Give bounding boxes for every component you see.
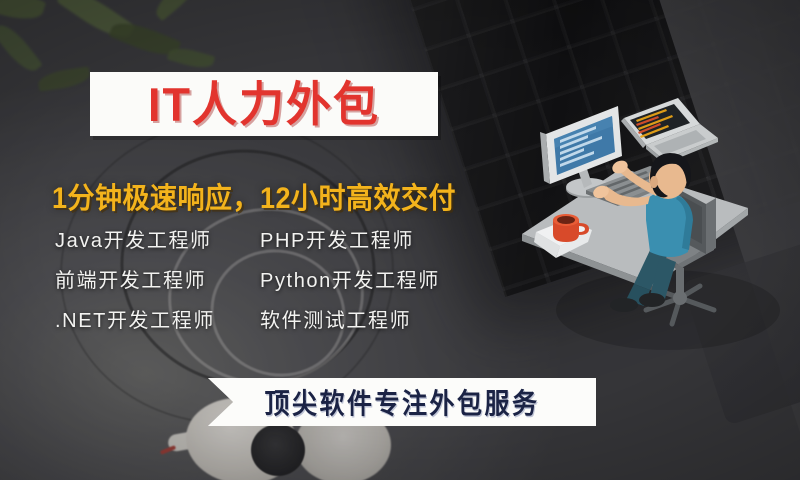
service-item-testing: 软件测试工程师 bbox=[260, 306, 485, 336]
subtitle-tagline: 1分钟极速响应，12小时高效交付 bbox=[52, 174, 456, 216]
page-title: IT人力外包 bbox=[148, 80, 380, 128]
earbud-driver bbox=[251, 424, 305, 476]
service-item-java: Java开发工程师 bbox=[55, 226, 260, 256]
service-item-dotnet: .NET开发工程师 bbox=[55, 306, 260, 336]
promo-poster: IT人力外包 1分钟极速响应，12小时高效交付 Java开发工程师 PHP开发工… bbox=[0, 0, 800, 480]
service-item-python: Python开发工程师 bbox=[260, 266, 485, 296]
service-item-frontend: 前端开发工程师 bbox=[55, 266, 260, 296]
programmer-illustration bbox=[500, 96, 800, 356]
footer-ribbon: 顶尖软件专注外包服务 bbox=[208, 378, 596, 426]
service-list: Java开发工程师 PHP开发工程师 前端开发工程师 Python开发工程师 .… bbox=[55, 226, 485, 336]
title-banner: IT人力外包 bbox=[90, 72, 438, 136]
ribbon-slogan: 顶尖软件专注外包服务 bbox=[264, 382, 539, 422]
service-item-php: PHP开发工程师 bbox=[260, 226, 485, 256]
